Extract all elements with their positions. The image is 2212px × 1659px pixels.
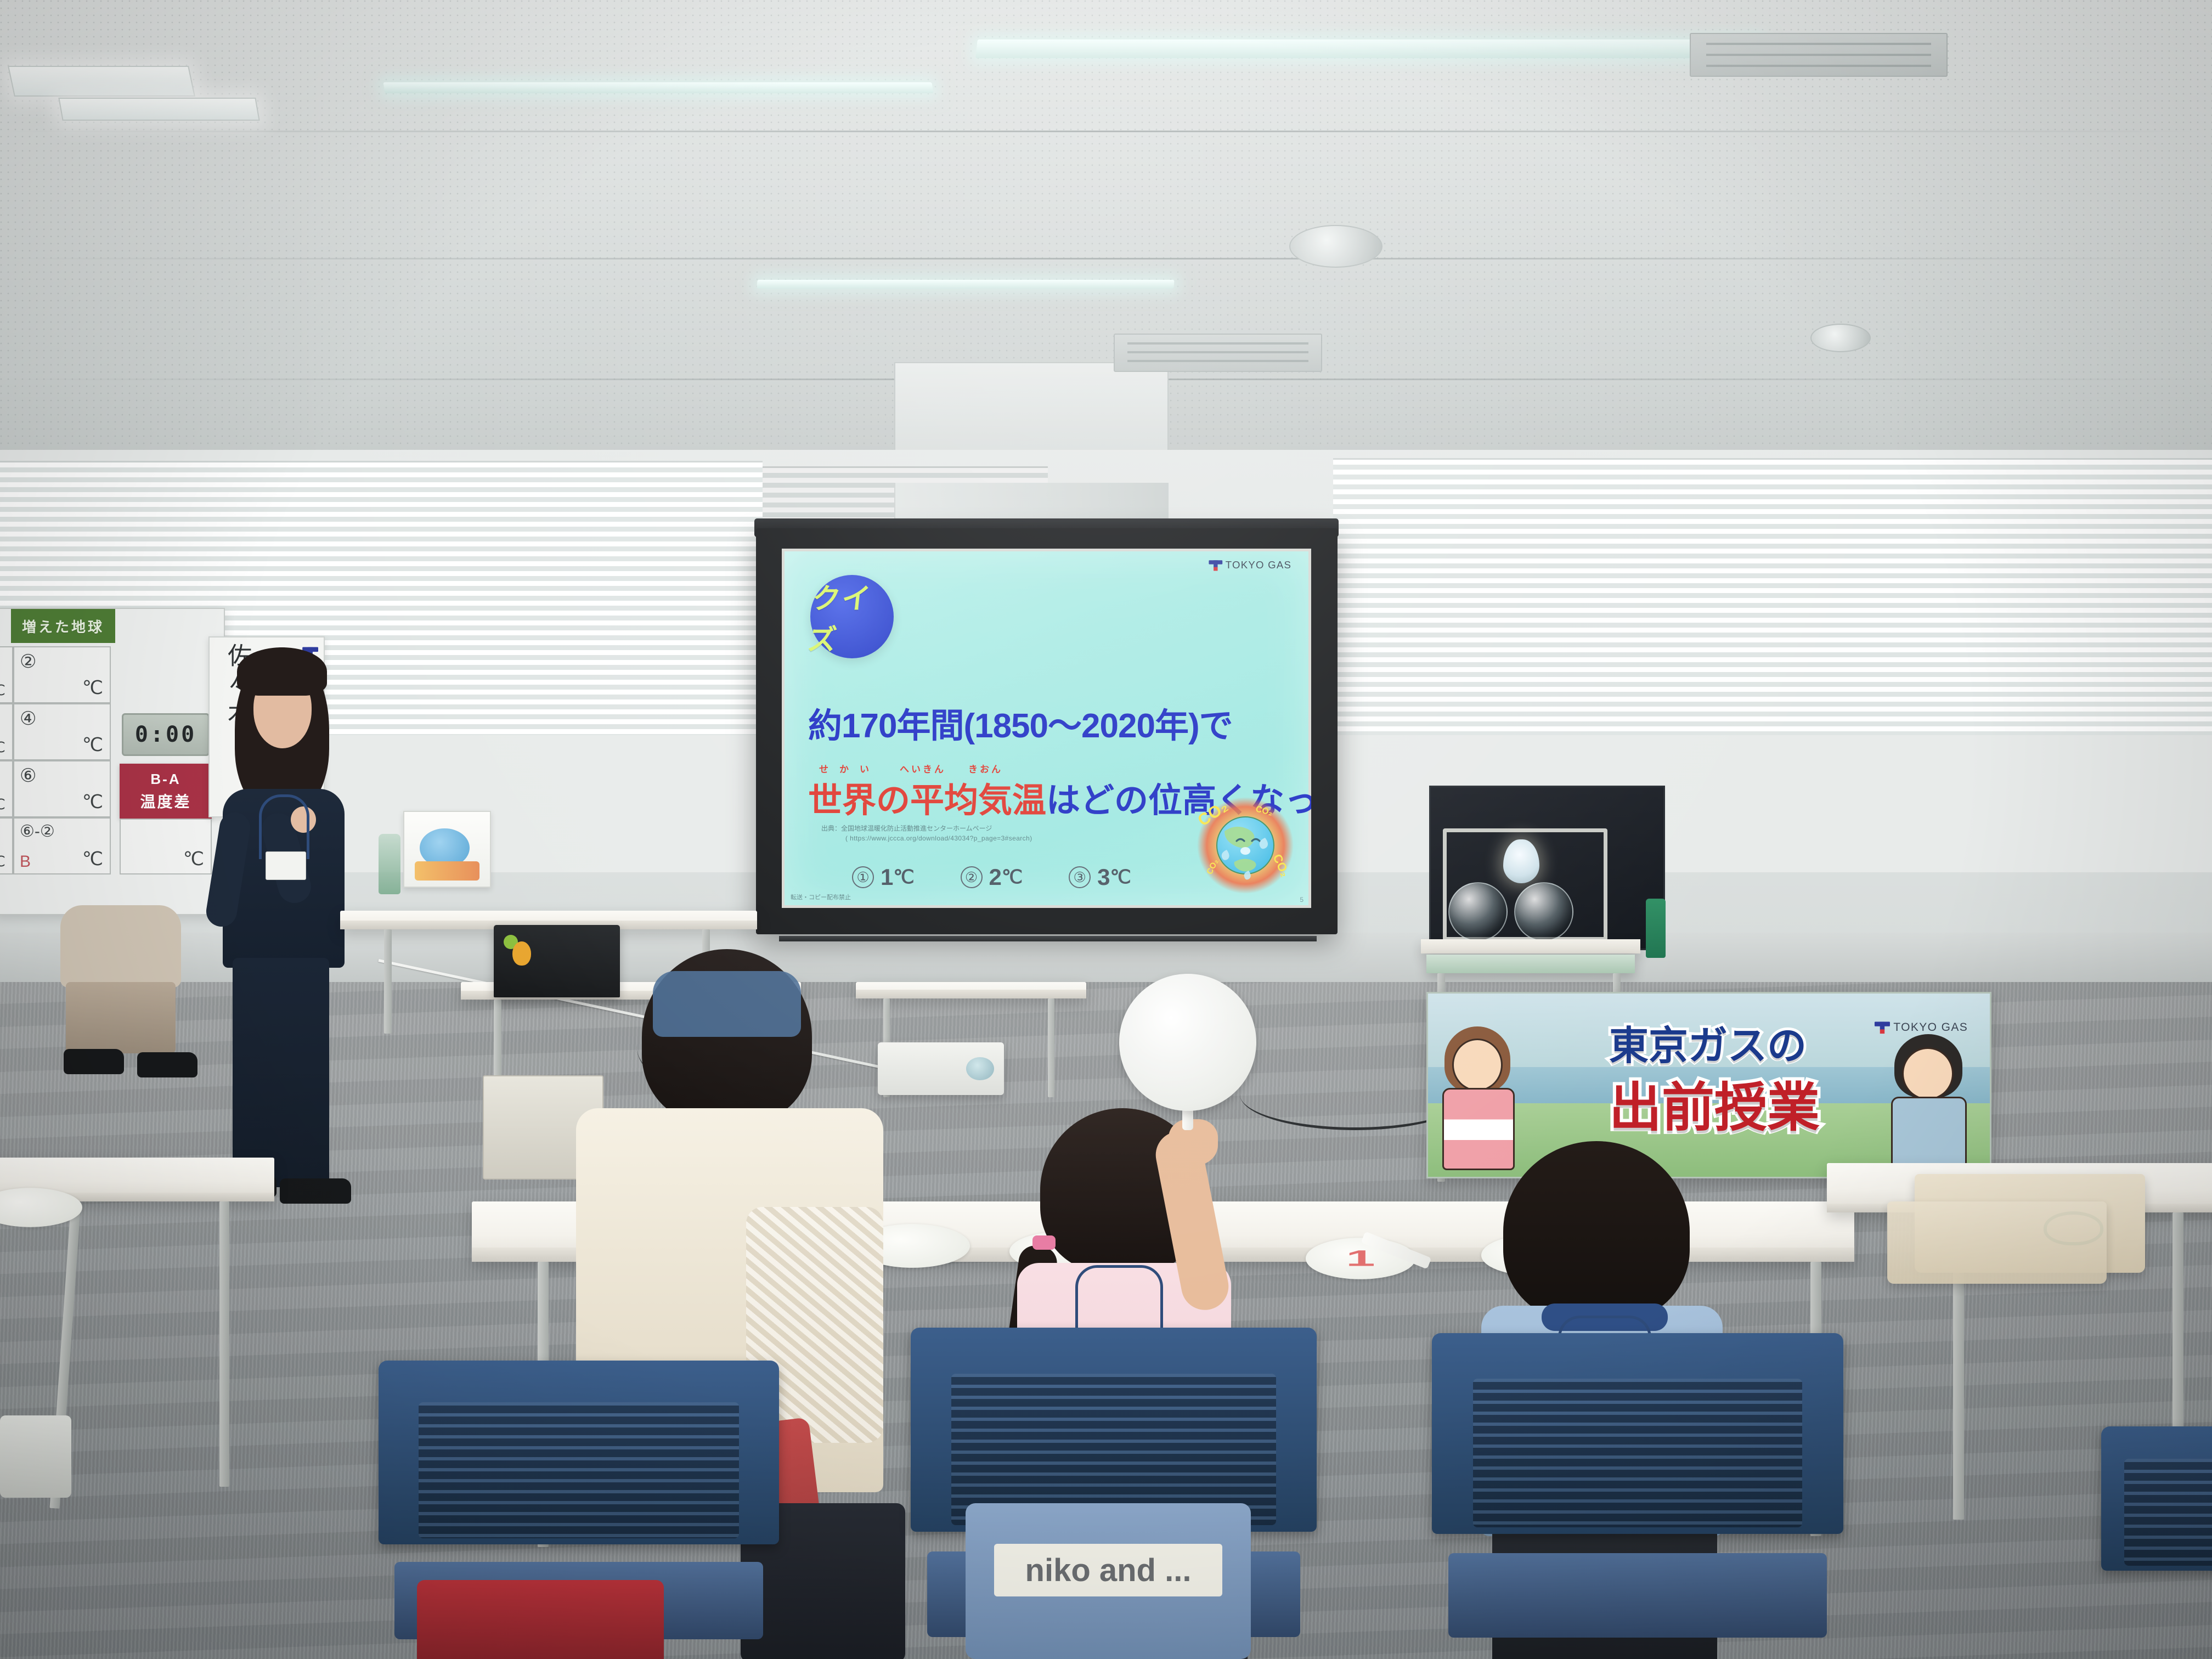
option-value: 3 [1097,864,1110,890]
girl-lanyard [1075,1265,1163,1331]
banner-girl-head [1452,1039,1503,1091]
child-artwork-poster [403,811,491,888]
diff-label-line2: 温度差 [140,790,191,812]
ceiling-panel-light [58,98,259,121]
classroom-scene: 増えた地球 ℃ ℃ ℃ ℃ ② ℃ ④ ℃ ⑥ ℃ ⑥-② B ℃ 0:00 B… [0,0,2212,1659]
presenter-id-badge [266,851,306,880]
chair-seat [1448,1553,1827,1637]
ceiling-speaker-icon [1289,225,1383,268]
diff-unit: ℃ [183,848,204,870]
floor-bin[interactable] [0,1415,71,1498]
table-leg [1048,998,1054,1097]
option-unit: ℃ [1110,866,1131,888]
board-row-2: ② ℃ [13,646,111,703]
board-row-4: ④ ℃ [13,703,111,760]
question-line-1: 約170年間(1850〜2020年)で [808,698,1233,747]
board-row-label: ⑥-② [20,822,55,841]
board-header: 増えた地球 [11,609,115,643]
banner-title-bottom: 出前授業 [1609,1065,1820,1141]
banner-brand-text: TOKYO GAS [1893,1021,1968,1034]
chair-back-slots [2124,1459,2212,1566]
board-diff-value-cell: ℃ [120,819,212,874]
diff-label-line1: B-A [150,771,180,788]
ceiling-speaker-icon [1810,324,1871,352]
chair-back-slots [419,1402,739,1538]
window-blinds-right [1333,458,2212,765]
projected-slide: TOKYO GAS クイズ 約170年間(1850〜2020年)で せ かい へ… [782,549,1311,908]
board-row-label: ④ [20,708,36,730]
chair[interactable] [1432,1333,1843,1657]
option-value: 1 [881,864,893,890]
chair-back-slots [1473,1379,1802,1527]
presenter-shoe [280,1178,351,1204]
board-row-unit: ℃ [82,791,103,813]
board-row-diff: ⑥-② B ℃ [13,817,111,874]
board-cell: ℃ [0,703,13,760]
ceiling-air-vent [1690,33,1948,77]
source-label: 出典：全国地球温暖化防止活動推進センターホームページ [821,823,1032,833]
presenter-lanyard [259,794,309,859]
board-row-unit: ℃ [82,848,103,870]
presenter-hair-front [237,647,327,696]
option-unit: ℃ [893,866,914,888]
tote-bag[interactable] [1887,1201,2107,1284]
spray-can[interactable] [1646,899,1666,958]
timer-display: 0:00 [135,722,196,747]
heat-lamp-bulb-icon [1503,839,1539,883]
raised-answer-fan[interactable] [1119,974,1256,1111]
ceiling-strip-light [757,280,1174,289]
slide-brand-logo: TOKYO GAS [1209,560,1291,571]
answer-option-3[interactable]: ③ 3 ℃ [1069,864,1131,890]
experiment-table [1421,939,1640,953]
board-row-label: ⑥ [20,765,36,787]
banner-boy-head [1902,1047,1954,1100]
quiz-badge-label: クイズ [806,575,898,658]
board-cell: ℃ [0,817,13,874]
chair[interactable] [2101,1426,2212,1659]
girl-hand [1169,1119,1218,1165]
quiz-badge: クイズ [810,575,894,658]
tokyo-gas-mark-icon [1875,1021,1890,1034]
board-cell: ℃ [0,760,13,817]
ceiling [0,0,2212,494]
ceiling-strip-light [383,82,933,93]
slide-page-number: 5 [1300,896,1304,904]
screen-support-bar [779,936,1317,941]
answer-fan-number-1[interactable]: 1 [1306,1238,1415,1279]
seated-person-shoe [64,1049,124,1074]
slide-source-note: 出典：全国地球温暖化防止活動推進センターホームページ ( https://www… [821,823,1032,843]
board-row-sub-label: B [20,853,31,871]
girl-hair-tie-icon [1032,1235,1056,1250]
table-leg [219,1201,229,1487]
answer-option-1[interactable]: ① 1 ℃ [852,864,915,890]
ceiling-strip-light [975,39,1762,58]
adult-hair-clip [653,971,801,1037]
seated-person-legs [66,982,176,1053]
temperature-difference-label: B-A 温度差 [120,764,212,819]
option-number: ② [961,866,983,888]
option-number: ① [852,866,874,888]
tokyo-gas-mark-icon [1209,560,1222,571]
projector-lens-icon [966,1057,994,1080]
ceiling-air-vent [1114,334,1322,372]
seated-person-left [60,905,203,1103]
chair-hanging-bag[interactable]: niko and ... [966,1503,1251,1659]
chair-back-slots [951,1374,1276,1525]
answer-option-2[interactable]: ② 2 ℃ [961,864,1023,890]
presenter [208,647,395,1245]
board-row-unit: ℃ [82,734,103,756]
crying-earth-mascot-icon: CO₂ CO₂ CO₂ CO₂ [1190,793,1300,897]
boy-hair [1503,1141,1690,1322]
board-row-unit: ℃ [82,677,103,699]
board-row-label: ② [20,651,36,673]
banner-boy-character [1883,1034,1977,1171]
board-cell: ℃ [0,646,13,703]
slide-footer-note: 転送・コピー配布禁止 [791,893,851,901]
answer-options-row: ① 1 ℃ ② 2 ℃ ③ 3 ℃ [852,864,1131,890]
banner-brand-logo: TOKYO GAS [1875,1021,1968,1034]
seated-person-shoe [137,1052,198,1077]
slide-brand-text: TOKYO GAS [1226,560,1291,571]
experiment-globe-right [1514,882,1573,941]
experiment-cart [1426,955,1635,973]
digital-timer[interactable]: 0:00 [122,713,210,756]
bag-brand-label: niko and ... [994,1544,1222,1597]
left-front-bag[interactable] [417,1580,664,1659]
option-unit: ℃ [1002,866,1023,888]
source-url: ( https://www.jccca.org/download/43034?p… [845,833,1032,843]
option-value: 2 [989,864,1002,890]
laptop-sticker-orange-icon [512,941,531,966]
presenter-legs [233,958,329,1187]
board-row-6: ⑥ ℃ [13,760,111,817]
table-leg [384,929,392,1034]
experiment-globe-left [1448,882,1508,941]
option-number: ③ [1069,866,1091,888]
seated-person-torso [60,905,181,988]
question-highlight: 世界の平均気温 [808,782,1046,820]
ceiling-panel-light [8,66,195,97]
banner-title-top: 東京ガスの [1609,1013,1807,1071]
